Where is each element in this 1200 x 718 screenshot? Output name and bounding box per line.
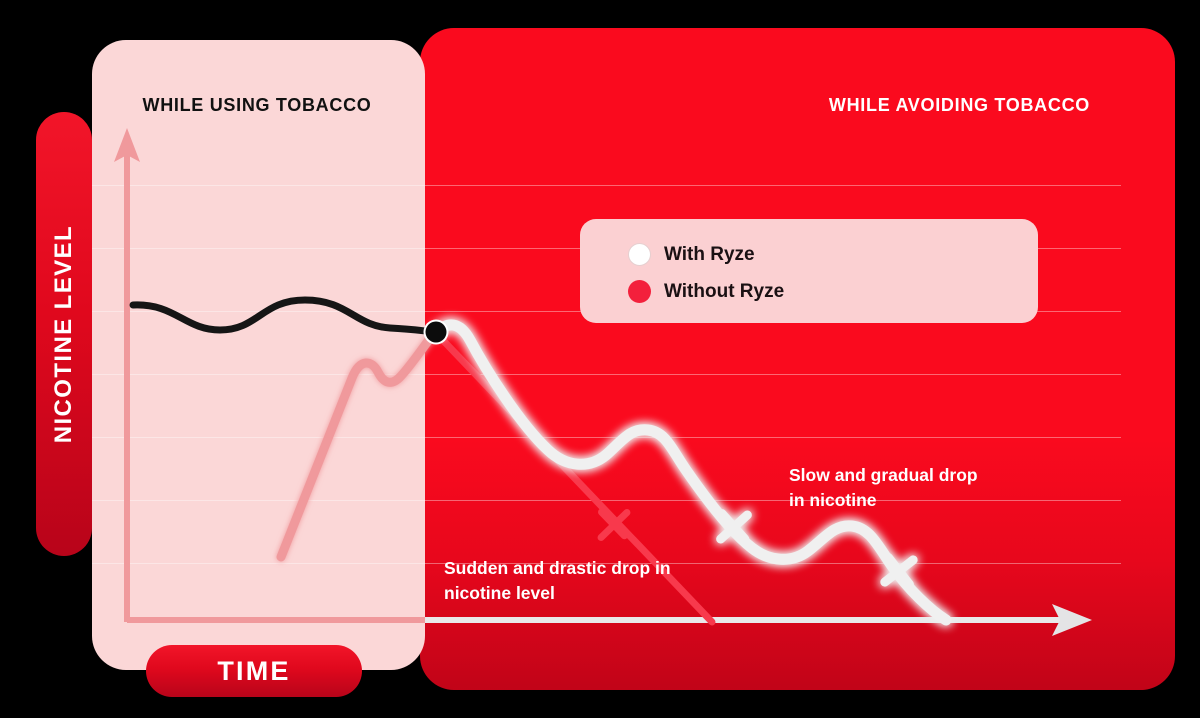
annotation-sudden-drop: Sudden and drastic drop in nicotine leve… — [444, 556, 674, 606]
header-while-avoiding-tobacco: WHILE AVOIDING TOBACCO — [820, 92, 1090, 118]
infographic-root: NICOTINE LEVEL TIME WHILE USING TOBACCO … — [0, 0, 1200, 718]
y-axis-label-text: NICOTINE LEVEL — [50, 225, 78, 443]
x-axis-label-pill: TIME — [146, 645, 362, 697]
header-while-using-tobacco: WHILE USING TOBACCO — [132, 92, 382, 118]
legend-swatch-red-circle-icon — [628, 280, 651, 303]
legend-swatch-white-circle-icon — [628, 243, 651, 266]
legend-label-without-ryze: Without Ryze — [664, 281, 784, 303]
legend-label-with-ryze: With Ryze — [664, 244, 755, 266]
legend-item-without-ryze[interactable]: Without Ryze — [628, 275, 1038, 308]
y-axis-label-pill: NICOTINE LEVEL — [36, 112, 92, 556]
x-axis-label-text: TIME — [217, 656, 290, 687]
chart-legend: With Ryze Without Ryze — [580, 219, 1038, 323]
annotation-slow-drop: Slow and gradual drop in nicotine — [789, 463, 989, 513]
legend-item-with-ryze[interactable]: With Ryze — [628, 238, 1038, 271]
panel-using-tobacco — [92, 40, 425, 670]
